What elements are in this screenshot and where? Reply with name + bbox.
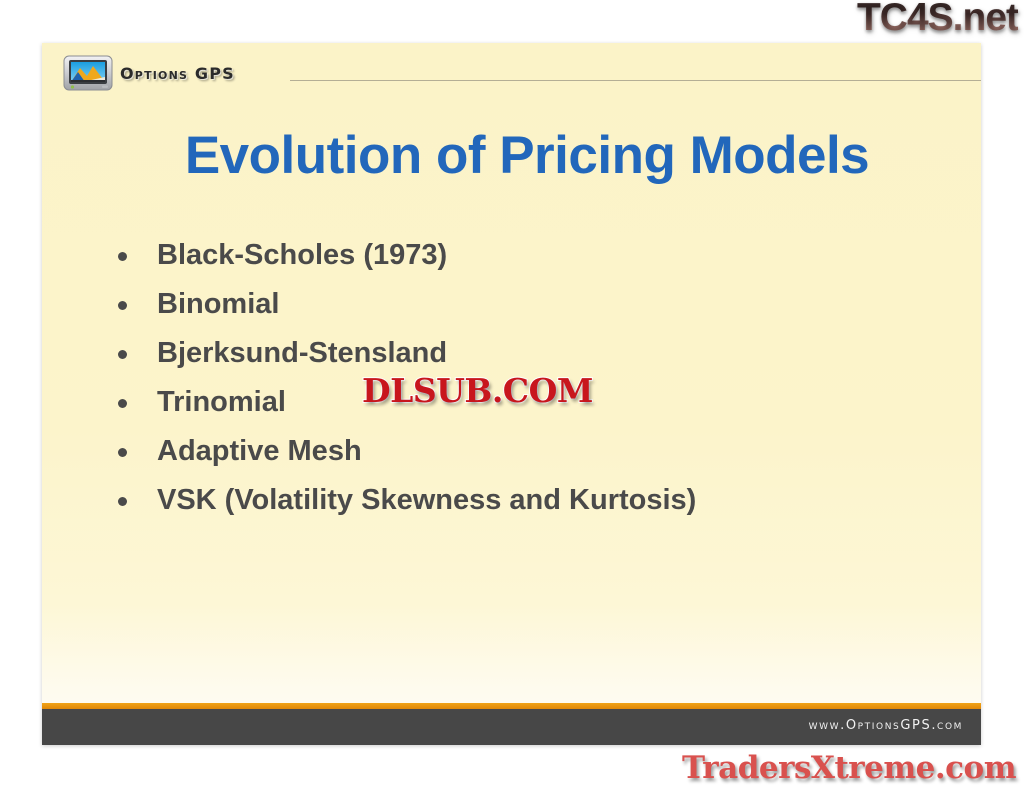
bullet-marker-icon: [118, 350, 127, 359]
slide-footer: www.OptionsGPS.com: [42, 709, 981, 745]
dlsub-watermark: DLSUB.COM: [362, 374, 593, 408]
list-item: Adaptive Mesh: [110, 436, 940, 467]
list-item-label: Black-Scholes (1973): [157, 239, 447, 271]
list-item: Bjerksund-Stensland: [110, 338, 940, 369]
header-divider: [290, 80, 981, 81]
list-item-label: Trinomial: [157, 386, 286, 418]
tc4s-watermark: TC4S.net: [857, 0, 1018, 38]
list-item: Black-Scholes (1973): [110, 240, 940, 271]
page-title: Evolution of Pricing Models: [97, 125, 957, 187]
list-item-label: Binomial: [157, 288, 279, 320]
gps-device-icon: [62, 54, 114, 94]
bullet-marker-icon: [118, 301, 127, 310]
list-item-label: VSK (Volatility Skewness and Kurtosis): [157, 484, 696, 516]
bullet-marker-icon: [118, 399, 127, 408]
bullet-marker-icon: [118, 252, 127, 261]
bullet-marker-icon: [118, 497, 127, 506]
bullet-marker-icon: [118, 448, 127, 457]
list-item: VSK (Volatility Skewness and Kurtosis): [110, 485, 940, 516]
list-item: Binomial: [110, 289, 940, 320]
slide-header: Options GPS: [42, 43, 981, 101]
footer-website-url: www.OptionsGPS.com: [809, 718, 963, 733]
brand-wordmark: Options GPS: [120, 64, 235, 83]
list-item-label: Adaptive Mesh: [157, 435, 362, 467]
list-item-label: Bjerksund-Stensland: [157, 337, 447, 369]
tradersxtreme-watermark: TradersXtreme.com: [682, 751, 1016, 785]
